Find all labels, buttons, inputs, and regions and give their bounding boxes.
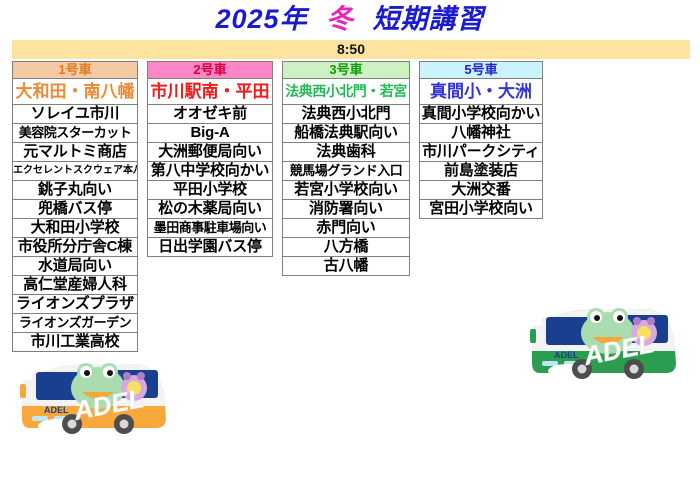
bus-stop-row: Big-A: [147, 123, 273, 143]
bus-stop-row: 宮田小学校向い: [419, 199, 543, 219]
bus-stop-row: 市川パークシティ: [419, 142, 543, 162]
bus-stop-row: 大洲交番: [419, 180, 543, 200]
bus-stop-row: 八幡神社: [419, 123, 543, 143]
route-name-1: 大和田・南八幡: [12, 78, 138, 105]
bus-stop-row: エクセレントスクウェア本八幡: [12, 161, 138, 181]
bus-stop-row: 競馬場グランド入口: [282, 161, 410, 181]
bus-number-header-2: 2号車: [147, 61, 273, 79]
bus-front-badge: ADEL: [554, 350, 579, 360]
bus-stop-row: 松の木薬局向い: [147, 199, 273, 219]
bus-stop-row: 市役所分庁舎C棟: [12, 237, 138, 257]
departure-time: 8:50: [12, 40, 690, 59]
bus-illustration-orange: ADEL ADEL: [14, 358, 174, 458]
bus-stop-row: ライオンズプラザ: [12, 294, 138, 314]
bus-stop-row: 法典西小北門: [282, 104, 410, 124]
bus-stop-row: 兜橋バス停: [12, 199, 138, 219]
bus-stop-row: 前島塗装店: [419, 161, 543, 181]
bus-stop-row: 大洲郵便局向い: [147, 142, 273, 162]
bus-stop-row: 高仁堂産婦人科: [12, 275, 138, 295]
bus-stop-row: 大和田小学校: [12, 218, 138, 238]
bus-stop-row: 市川工業高校: [12, 332, 138, 352]
bus-stop-row: 赤門向い: [282, 218, 410, 238]
bus-stop-row: 水道局向い: [12, 256, 138, 276]
bus-stop-row: 若宮小学校向い: [282, 180, 410, 200]
bus-stop-row: 美容院スターカット: [12, 123, 138, 143]
bus-stop-row: 元マルトミ商店: [12, 142, 138, 162]
bus-illustration-green: ADEL ADEL: [524, 303, 684, 403]
bus-stop-row: ソレイユ市川: [12, 104, 138, 124]
bus-number-header-4: 5号車: [419, 61, 543, 79]
route-column-2: 2号車市川駅南・平田オオゼキ前Big-A大洲郵便局向い第八中学校向かい平田小学校…: [147, 61, 273, 256]
route-name-3: 法典西小北門・若宮: [282, 78, 410, 105]
title-year: 2025年: [216, 2, 308, 36]
bus-stop-row: 古八幡: [282, 256, 410, 276]
bus-number-header-1: 1号車: [12, 61, 138, 79]
bus-stop-row: 日出学園バス停: [147, 237, 273, 257]
bus-number-header-3: 3号車: [282, 61, 410, 79]
bus-body-orange: ADEL ADEL: [20, 363, 166, 434]
bus-stop-row: 墨田商事駐車場向い: [147, 218, 273, 238]
bus-stop-row: 船橋法典駅向い: [282, 123, 410, 143]
route-name-2: 市川駅南・平田: [147, 78, 273, 105]
bus-stop-row: 八方橋: [282, 237, 410, 257]
route-name-4: 真間小・大洲: [419, 78, 543, 105]
title-season: 冬: [326, 2, 354, 36]
route-column-4: 5号車真間小・大洲真間小学校向かい八幡神社市川パークシティ前島塗装店大洲交番宮田…: [419, 61, 543, 218]
bus-stop-row: 消防署向い: [282, 199, 410, 219]
title-program: 短期講習: [372, 2, 484, 36]
bus-stop-row: 第八中学校向かい: [147, 161, 273, 181]
route-column-1: 1号車大和田・南八幡ソレイユ市川美容院スターカット元マルトミ商店エクセレントスク…: [12, 61, 138, 351]
route-column-3: 3号車法典西小北門・若宮法典西小北門船橋法典駅向い法典歯科競馬場グランド入口若宮…: [282, 61, 410, 275]
bus-stop-row: 真間小学校向かい: [419, 104, 543, 124]
bus-stop-row: ライオンズガーデン: [12, 313, 138, 333]
bus-stop-row: 平田小学校: [147, 180, 273, 200]
page-title: 2025年 冬 短期講習: [0, 2, 700, 36]
bus-body-green: ADEL ADEL: [530, 308, 676, 379]
bus-front-badge: ADEL: [44, 405, 69, 415]
bus-stop-row: 法典歯科: [282, 142, 410, 162]
bus-stop-row: オオゼキ前: [147, 104, 273, 124]
departure-time-band: 8:50: [12, 40, 690, 59]
bus-stop-row: 銚子丸向い: [12, 180, 138, 200]
